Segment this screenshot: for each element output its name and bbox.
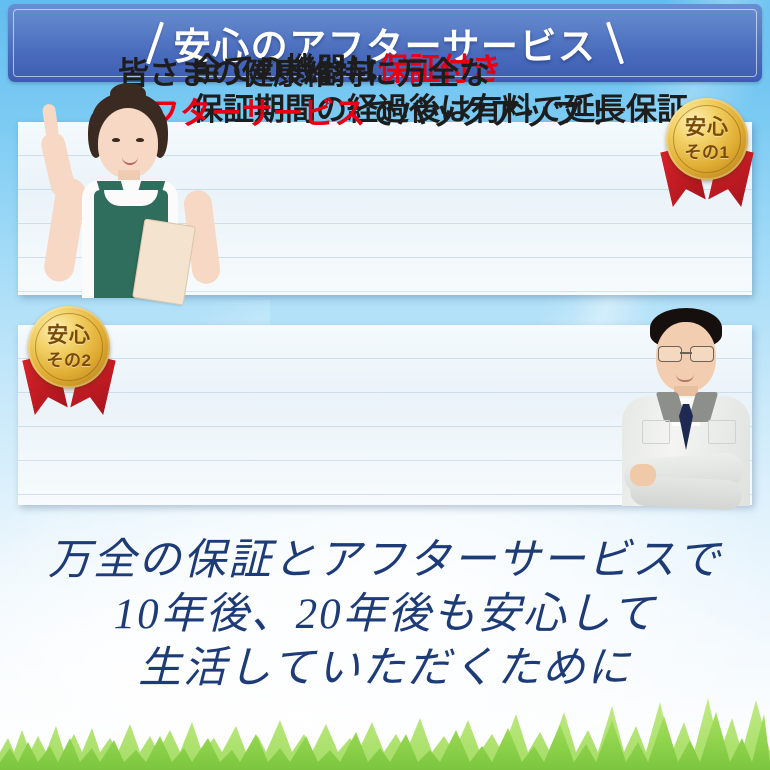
glasses-icon bbox=[658, 346, 714, 360]
man-technician-arms-crossed-photo bbox=[608, 300, 766, 506]
closing-line-3: 生活していただくために bbox=[0, 642, 770, 696]
assurance-badge-2: 安心 その2 bbox=[22, 306, 116, 416]
closing-message: 万全の保証とアフターサービスで 10年後、20年後も安心して 生活していただくた… bbox=[0, 534, 770, 697]
closing-line-2: 10年後、20年後も安心して bbox=[0, 588, 770, 642]
clipboard bbox=[132, 218, 196, 305]
gold-medal-icon: 安心 その2 bbox=[28, 306, 110, 388]
closing-line-1: 万全の保証とアフターサービスで bbox=[0, 534, 770, 588]
pointing-finger bbox=[42, 103, 60, 138]
gold-medal-icon: 安心 その1 bbox=[666, 98, 748, 180]
promo-banner: 安心のアフターサービス 全ての機器は保証付き 保証期間の経過後は有料で延長保証 bbox=[0, 0, 770, 770]
woman-staff-pointing-up-photo bbox=[42, 86, 218, 298]
assurance-badge-1: 安心 その1 bbox=[660, 98, 754, 208]
